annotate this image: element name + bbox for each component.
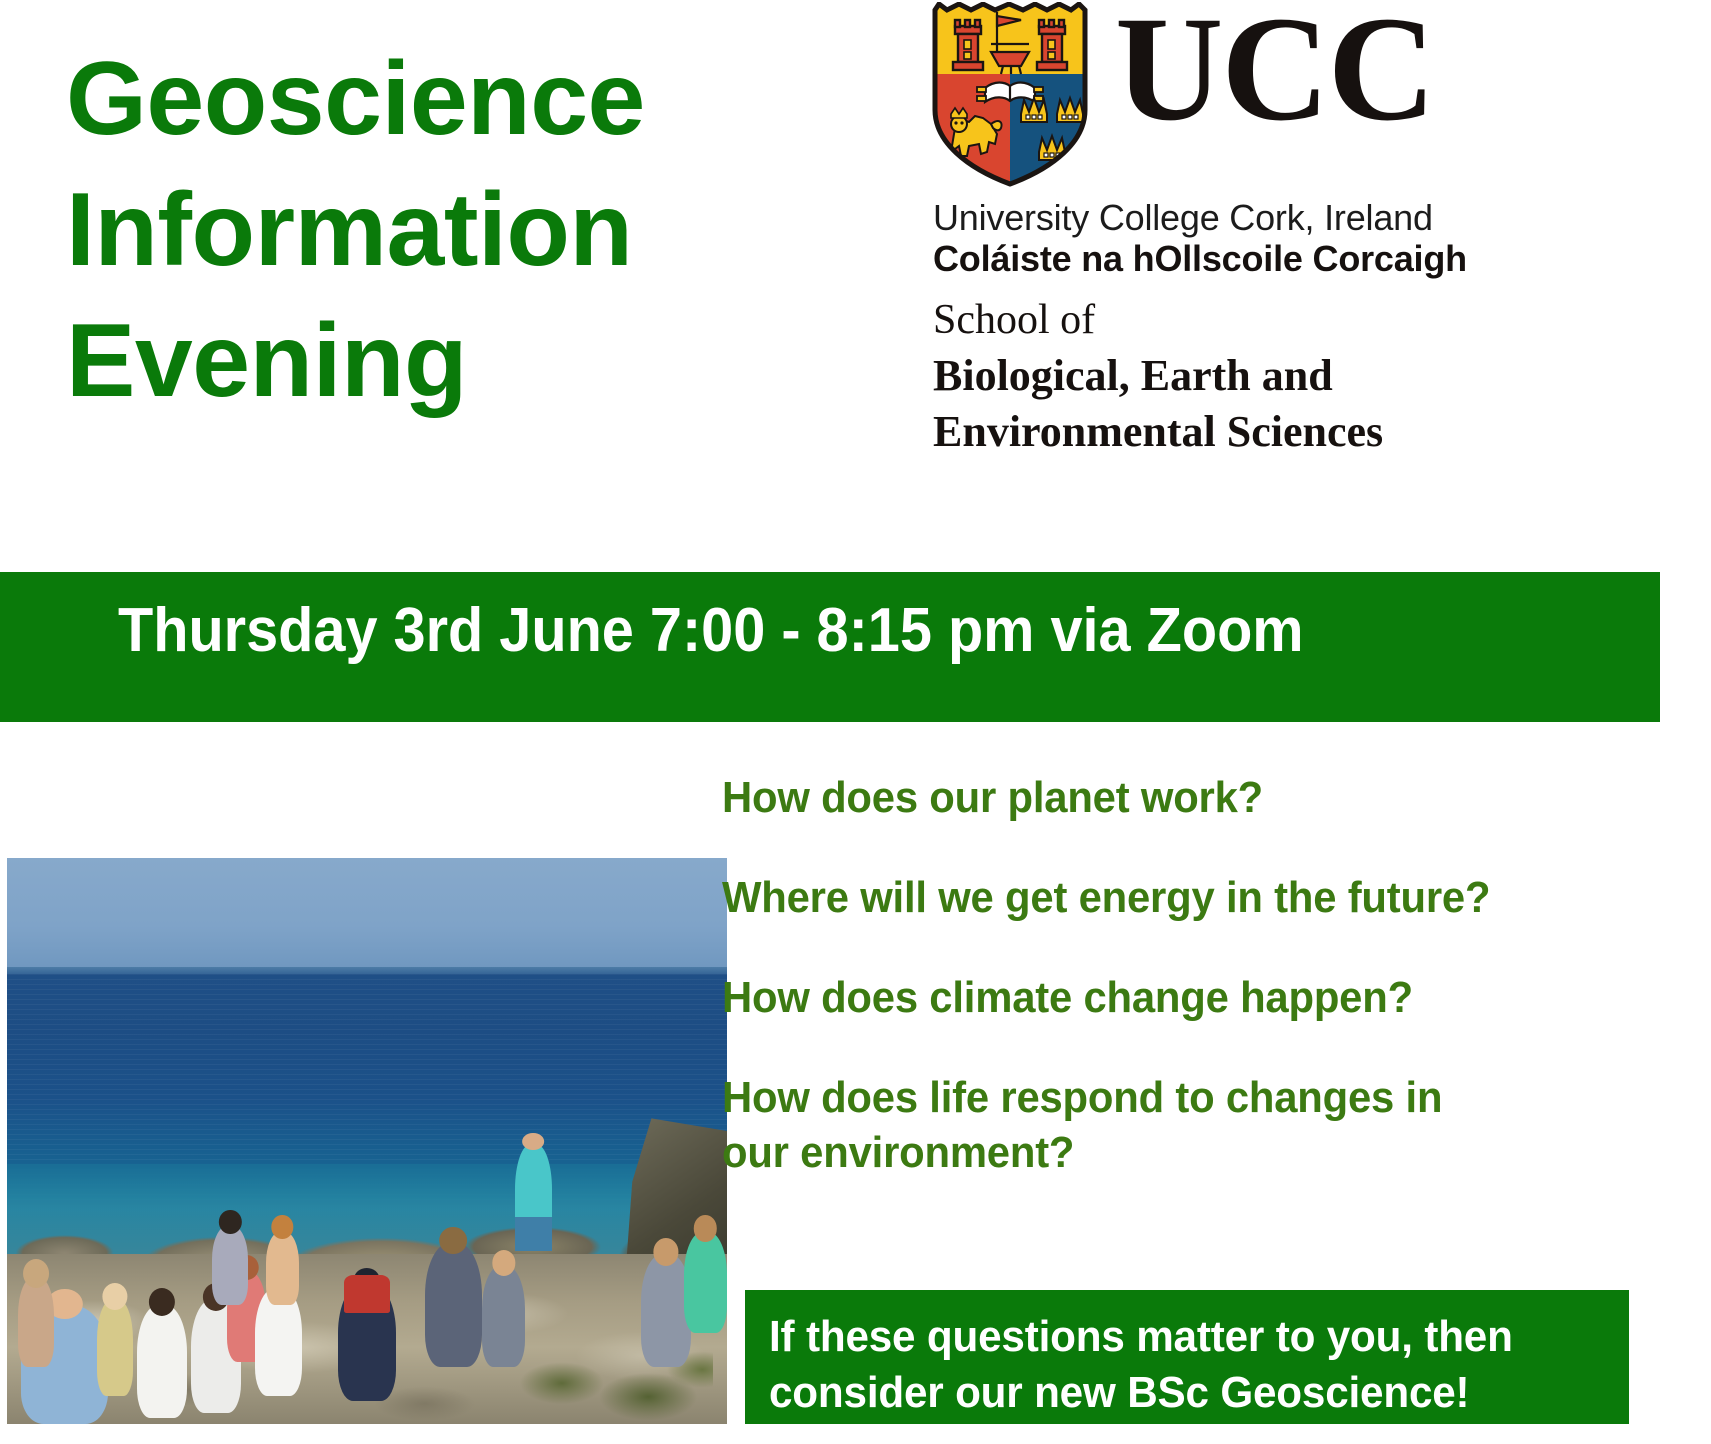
school-prefix: School of [933, 296, 1095, 344]
cta-line-2: consider our new BSc Geoscience! [769, 1365, 1585, 1421]
date-banner: Thursday 3rd June 7:00 - 8:15 pm via Zoo… [0, 572, 1660, 722]
photo-student [97, 1299, 133, 1395]
photo-student [137, 1305, 187, 1418]
date-banner-text: Thursday 3rd June 7:00 - 8:15 pm via Zoo… [118, 600, 1304, 662]
ucc-name-irish: Coláiste na hOllscoile Corcaigh [933, 238, 1467, 280]
ucc-coat-of-arms-icon [925, 2, 1095, 194]
photo-student-head [440, 1227, 468, 1254]
photo-student [18, 1277, 54, 1368]
photo-student-head [23, 1259, 49, 1288]
photo-student-head [653, 1238, 678, 1265]
photo-instructor-head [522, 1133, 544, 1150]
page-title: Geoscience Information Evening [66, 34, 856, 427]
title-line-2: Information [66, 165, 856, 296]
photo-student-head [102, 1283, 127, 1310]
question-item: How does climate change happen? [722, 970, 1413, 1025]
photo-student [425, 1243, 483, 1368]
photo-instructor [515, 1144, 552, 1252]
photo-student [482, 1266, 525, 1368]
photo-student [684, 1232, 727, 1334]
photo-student-head [272, 1215, 293, 1239]
ucc-logo-row: UCC [925, 0, 1485, 168]
school-name-line-2: Environmental Sciences [933, 404, 1383, 460]
photo-student-head [149, 1288, 175, 1316]
call-to-action-box: If these questions matter to you, then c… [745, 1290, 1629, 1424]
photo-student [212, 1226, 248, 1305]
ucc-logo-block: UCC University College Cork, Ireland Col… [925, 0, 1485, 168]
question-item: Where will we get energy in the future? [722, 870, 1490, 925]
ucc-wordmark: UCC [1115, 0, 1434, 144]
poster-root: Geoscience Information Evening [0, 0, 1711, 1444]
title-line-3: Evening [66, 296, 856, 427]
call-to-action-text: If these questions matter to you, then c… [769, 1309, 1585, 1422]
question-item-line-2: our environment? [722, 1125, 1482, 1180]
poster-header: Geoscience Information Evening [0, 0, 1711, 520]
question-item: How does our planet work? [722, 770, 1263, 825]
photo-student-head [219, 1210, 241, 1234]
photo-student-head [492, 1250, 515, 1275]
question-item-line-1: How does life respond to changes in [722, 1070, 1482, 1125]
title-line-1: Geoscience [66, 34, 856, 165]
photo-sky [7, 858, 727, 971]
school-name-line-1: Biological, Earth and [933, 348, 1383, 404]
cta-line-1: If these questions matter to you, then [769, 1309, 1585, 1365]
question-item: How does life respond to changes in our … [722, 1070, 1482, 1181]
photo-student [266, 1232, 298, 1306]
photo-student-backpack [338, 1283, 396, 1402]
photo-student-head [694, 1215, 716, 1241]
ucc-name-english: University College Cork, Ireland [933, 197, 1433, 239]
school-name: Biological, Earth and Environmental Scie… [933, 348, 1383, 460]
geoscience-fieldwork-photo [7, 858, 727, 1424]
